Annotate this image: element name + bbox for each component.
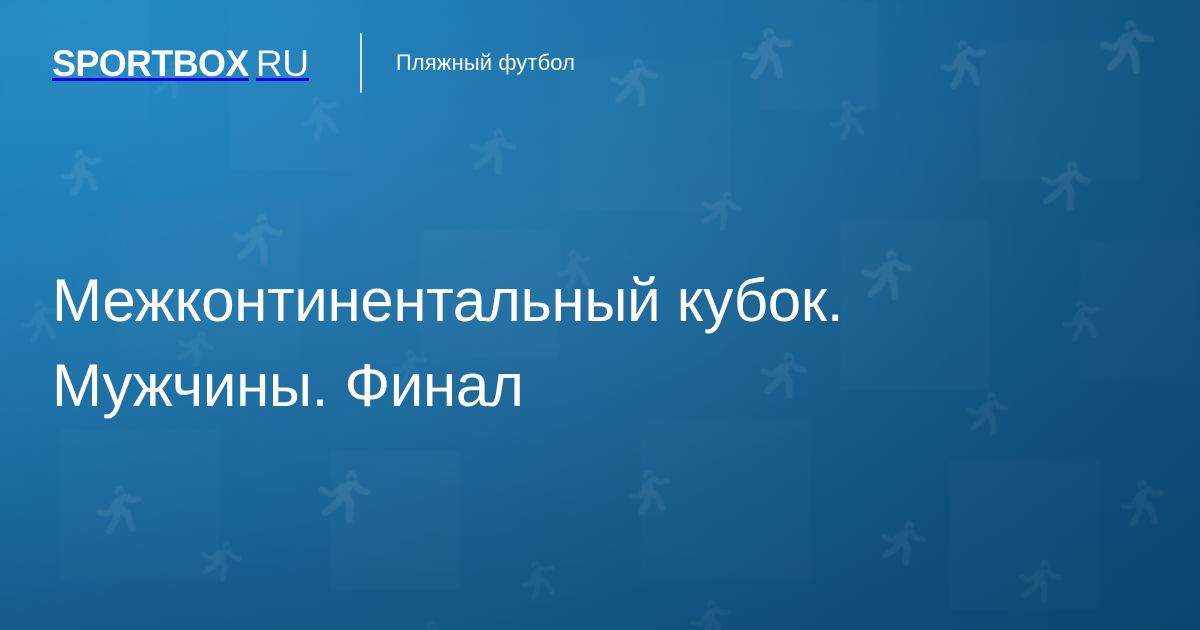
- section-label[interactable]: Пляжный футбол: [396, 50, 575, 76]
- header-divider: [360, 33, 362, 93]
- logo-wordmark: SPORTBOX: [52, 45, 249, 82]
- page-title: Межконтинентальный кубок. Мужчины. Финал: [52, 258, 1112, 428]
- page-title-line-1: Межконтинентальный кубок.: [52, 267, 843, 334]
- site-header: SPORTBOX RU Пляжный футбол: [52, 36, 575, 90]
- logo-tld: RU: [256, 45, 309, 82]
- share-card: SPORTBOX RU Пляжный футбол Межконтинента…: [0, 0, 1200, 630]
- page-title-line-2: Мужчины. Финал: [52, 352, 524, 419]
- sportbox-logo[interactable]: SPORTBOX RU: [52, 45, 309, 82]
